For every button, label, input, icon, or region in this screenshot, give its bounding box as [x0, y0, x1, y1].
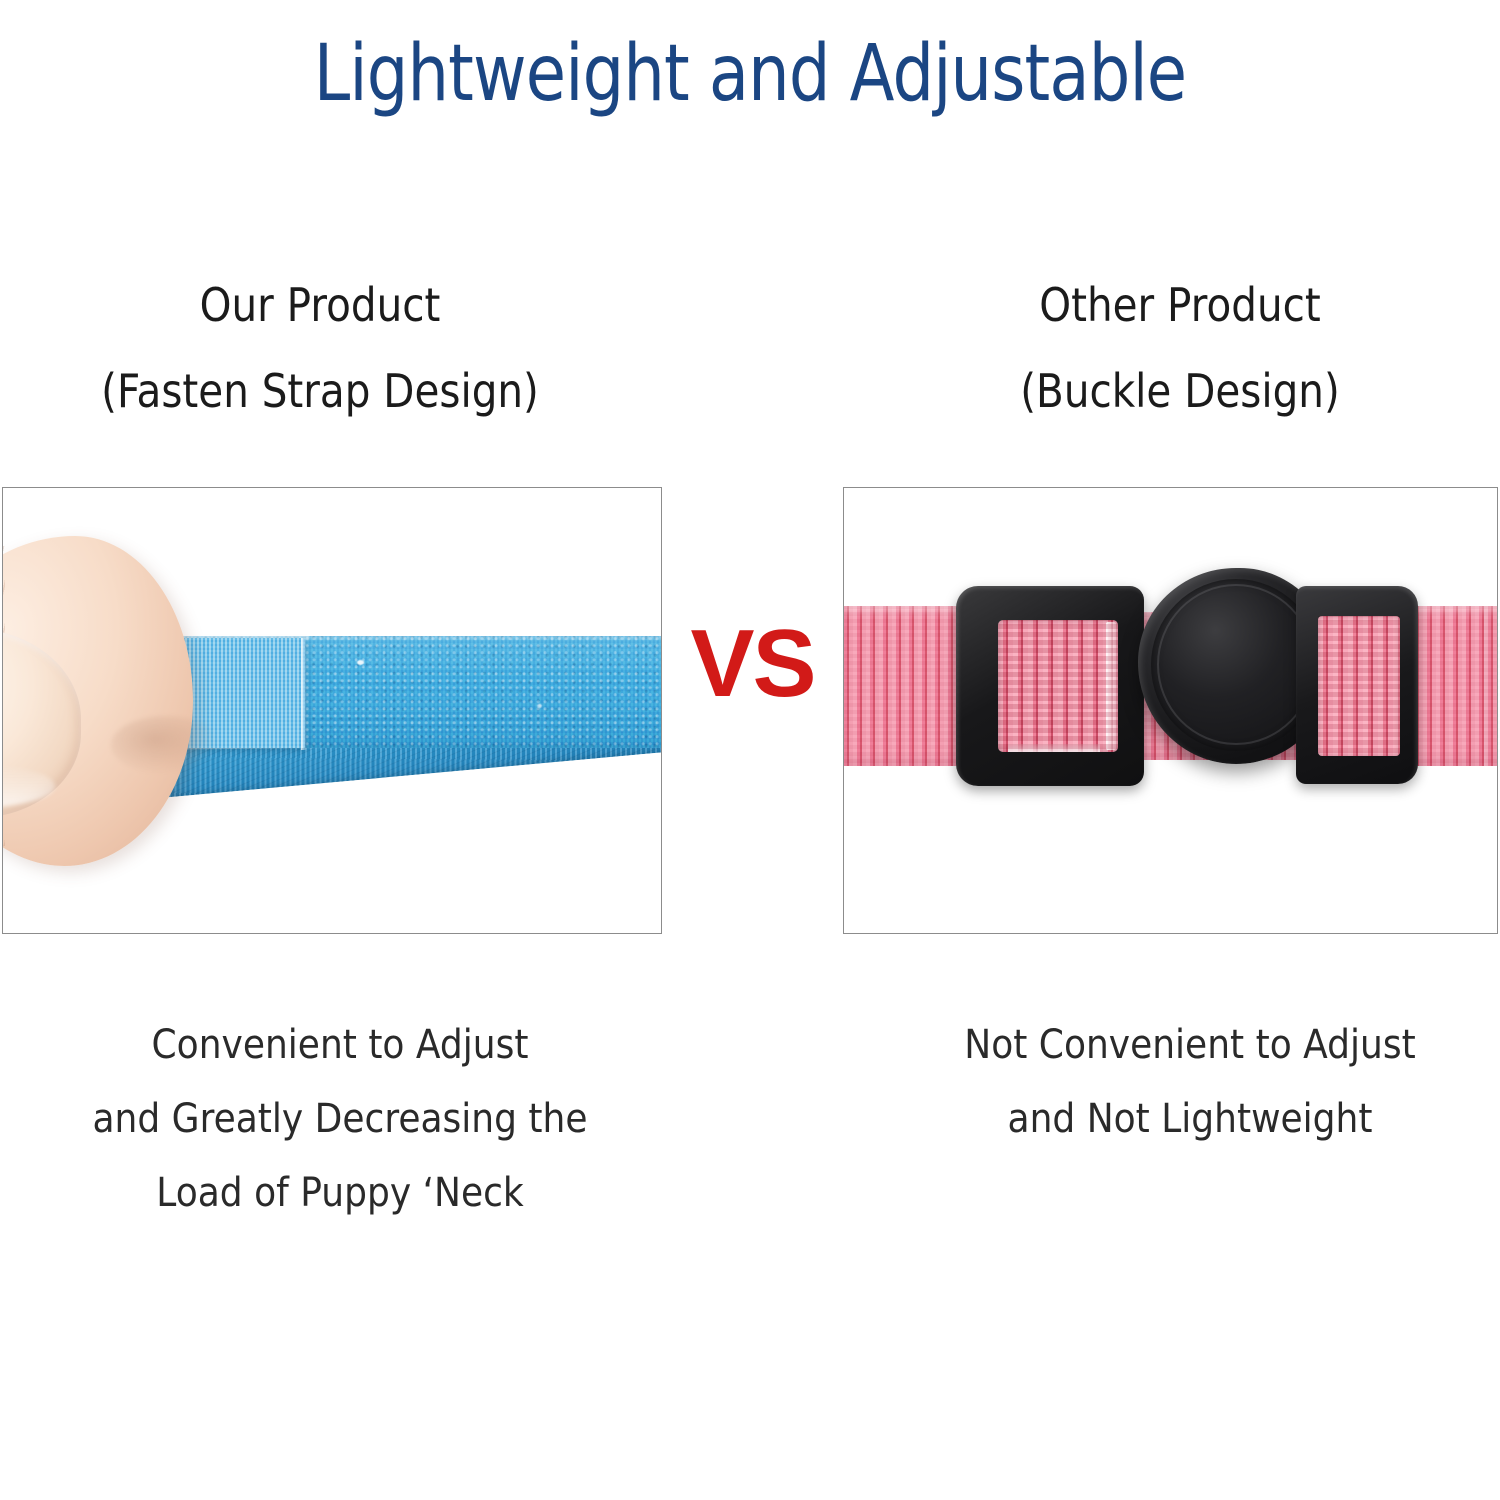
velcro-tab-edge-highlight	[301, 638, 307, 750]
buckle-collar-illustration	[844, 488, 1497, 933]
left-caption-line-1: Convenient to Adjust	[52, 1008, 628, 1082]
right-caption-line-1: Not Convenient to Adjust	[911, 1008, 1469, 1082]
thumb	[2, 536, 193, 866]
left-caption-line-3: Load of Puppy ‘Neck	[52, 1156, 628, 1230]
left-caption: Convenient to Adjust and Greatly Decreas…	[20, 1008, 660, 1230]
vs-separator-label: VS	[662, 612, 843, 716]
left-heading-line-1: Our Product	[38, 272, 601, 338]
buckle-slider-window	[998, 620, 1118, 752]
webbing-gap-highlight	[1106, 622, 1116, 750]
right-heading-line-2: (Buckle Design)	[898, 358, 1461, 424]
lint-speck	[537, 704, 542, 708]
left-caption-line-2: and Greatly Decreasing the	[52, 1082, 628, 1156]
pink-buckle-collar-photo	[843, 487, 1498, 934]
product-comparison-infographic: Lightweight and Adjustable Our Product (…	[0, 0, 1500, 1500]
thumbnail	[2, 628, 81, 818]
buckle-keeper-window	[1318, 616, 1400, 756]
buckle-slider-frame	[956, 586, 1144, 786]
right-caption-line-2: and Not Lightweight	[911, 1082, 1469, 1156]
left-heading-line-2: (Fasten Strap Design)	[38, 358, 601, 424]
buckle-keeper-loop	[1296, 586, 1418, 784]
right-column-heading: Other Product (Buckle Design)	[860, 272, 1500, 424]
lint-speck	[357, 660, 364, 665]
webbing-gap-highlight	[1008, 744, 1100, 752]
right-caption: Not Convenient to Adjust and Not Lightwe…	[880, 1008, 1500, 1156]
page-title: Lightweight and Adjustable	[120, 28, 1380, 120]
velcro-strap-illustration	[3, 488, 661, 933]
collar-webbing-far-right	[1484, 606, 1498, 766]
right-heading-line-1: Other Product	[898, 272, 1461, 338]
thumb-contact-shadow	[111, 716, 221, 774]
buckle-disc-ring	[1157, 584, 1315, 745]
velcro-fasten-strap-photo	[2, 487, 662, 934]
left-column-heading: Our Product (Fasten Strap Design)	[0, 272, 640, 424]
